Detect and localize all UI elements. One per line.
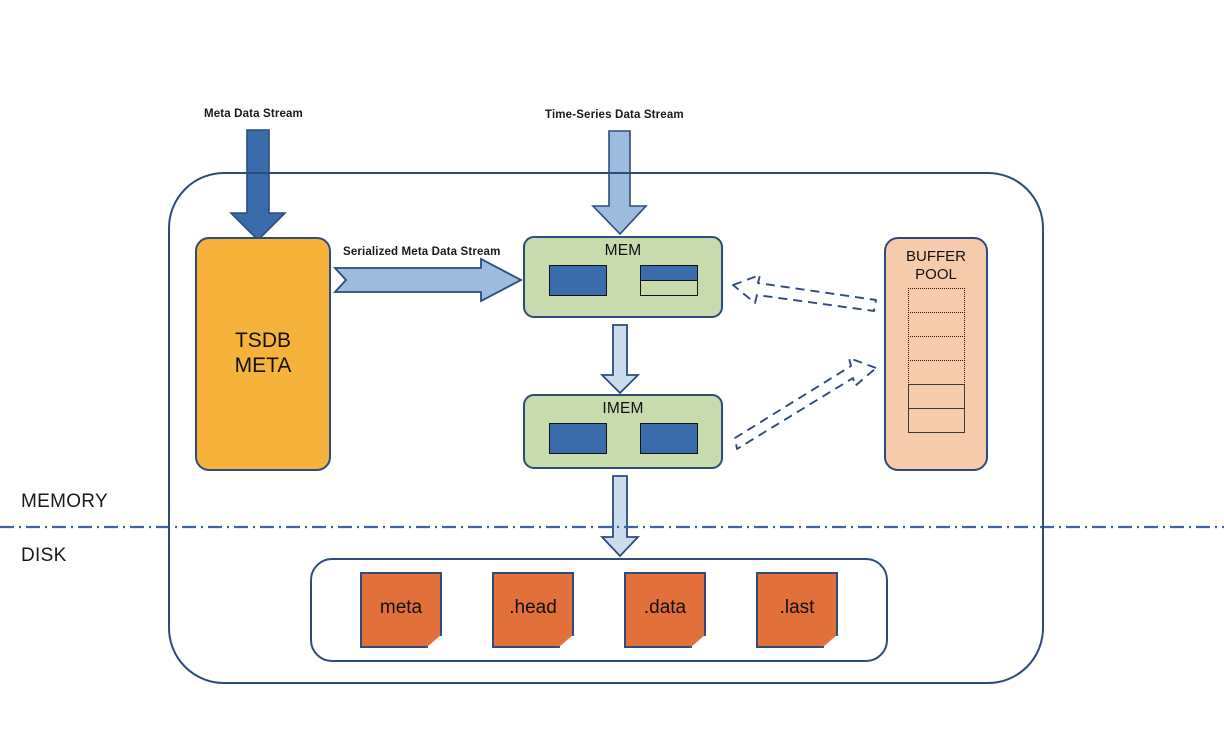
buffer-slot-free-1 xyxy=(908,288,965,313)
disk-file-label: .last xyxy=(756,572,838,648)
disk-file-label: .data xyxy=(624,572,706,648)
memory-tier-label: MEMORY xyxy=(21,491,108,513)
imem-label: IMEM xyxy=(602,400,643,418)
disk-file-label: meta xyxy=(360,572,442,648)
buffer-slot-free-3 xyxy=(908,336,965,361)
disk-file-meta[interactable]: meta xyxy=(360,572,442,648)
tsdb-meta-node[interactable]: TSDB META xyxy=(195,237,331,471)
imem-slot-row xyxy=(549,423,698,454)
imem-slot-full-1 xyxy=(549,423,607,454)
buffer-pool-slots xyxy=(908,288,965,432)
buffer-slot-free-4 xyxy=(908,360,965,385)
buffer-pool-node[interactable]: BUFFER POOL xyxy=(884,237,988,471)
imem-slot-full-2 xyxy=(640,423,698,454)
imem-node[interactable]: IMEM xyxy=(523,394,723,469)
buffer-pool-label: BUFFER POOL xyxy=(906,248,966,283)
disk-file-last[interactable]: .last xyxy=(756,572,838,648)
buffer-slot-free-2 xyxy=(908,312,965,337)
meta-data-stream-label: Meta Data Stream xyxy=(204,108,303,120)
disk-file-label: .head xyxy=(492,572,574,648)
mem-slot-row xyxy=(549,265,698,296)
disk-file-data[interactable]: .data xyxy=(624,572,706,648)
serialized-meta-data-stream-label: Serialized Meta Data Stream xyxy=(343,246,500,258)
mem-node[interactable]: MEM xyxy=(523,236,723,318)
diagram-canvas: TSDB META MEM IMEM BUFFER POOL xyxy=(0,0,1224,736)
mem-slot-half xyxy=(640,265,698,296)
mem-label: MEM xyxy=(605,242,642,260)
time-series-data-stream-label: Time-Series Data Stream xyxy=(545,109,684,121)
buffer-slot-used-1 xyxy=(908,384,965,409)
mem-slot-full xyxy=(549,265,607,296)
buffer-slot-used-2 xyxy=(908,408,965,433)
disk-file-row: meta .head .data .last xyxy=(310,558,888,662)
tsdb-meta-label: TSDB META xyxy=(235,329,292,379)
disk-file-head[interactable]: .head xyxy=(492,572,574,648)
disk-tier-label: DISK xyxy=(21,545,67,567)
